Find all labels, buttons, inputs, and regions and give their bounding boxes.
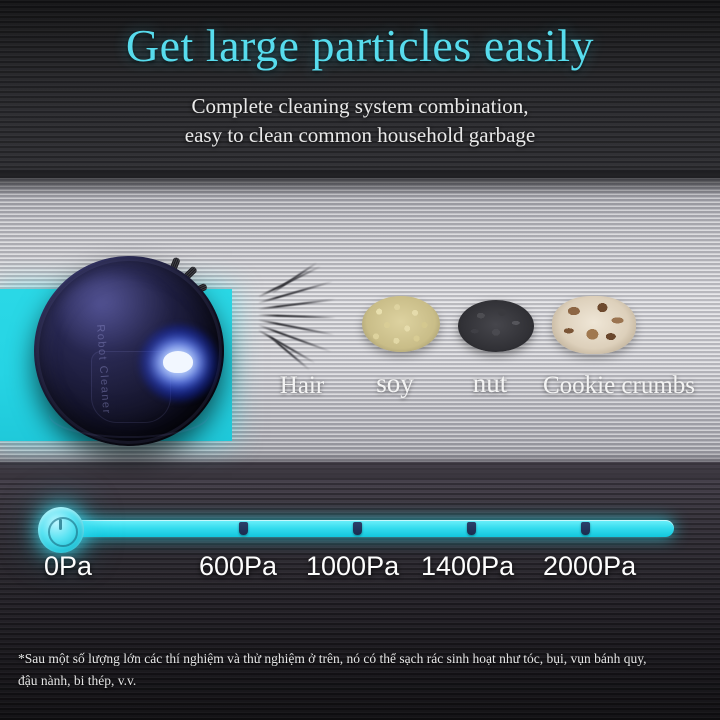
footnote: *Sau một số lượng lớn các thí nghiệm và … [18, 648, 708, 692]
slider-label-1000pa: 1000Pa [306, 551, 399, 582]
robot-vacuum: Robot Cleaner [22, 252, 242, 462]
slider-tick-1000pa [353, 522, 362, 535]
slider-label-2000pa: 2000Pa [543, 551, 636, 582]
subtitle-line-2: easy to clean common household garbage [0, 121, 720, 150]
sample-soy [362, 296, 440, 352]
footnote-line-2: đậu nành, bi thép, v.v. [18, 670, 708, 692]
led-indicator-icon [163, 351, 193, 373]
subtitle-line-1: Complete cleaning system combination, [0, 92, 720, 121]
sample-label-cookie-crumbs: Cookie crumbs [528, 372, 710, 400]
slider-tick-600pa [239, 522, 248, 535]
slider-tick-2000pa [581, 522, 590, 535]
slider-label-0pa: 0Pa [44, 551, 92, 582]
sample-label-hair: Hair [258, 372, 346, 400]
background-blend-top [0, 170, 720, 196]
sample-hair [258, 286, 350, 352]
footnote-line-1: *Sau một số lượng lớn các thí nghiệm và … [18, 648, 708, 670]
slider-label-600pa: 600Pa [199, 551, 277, 582]
headline: Get large particles easily [0, 22, 720, 70]
sample-nut [458, 300, 534, 352]
slider-label-1400pa: 1400Pa [421, 551, 514, 582]
suction-pressure-slider[interactable]: 0Pa 600Pa 1000Pa 1400Pa 2000Pa [0, 505, 720, 595]
power-icon [48, 517, 78, 547]
power-icon-bar [59, 519, 62, 530]
slider-knob[interactable] [38, 507, 84, 553]
product-ad-banner: Get large particles easily Complete clea… [0, 0, 720, 720]
sample-cookie-crumbs [552, 296, 636, 354]
slider-tick-1400pa [467, 522, 476, 535]
subtitle: Complete cleaning system combination, ea… [0, 92, 720, 150]
sample-label-nut: nut [448, 368, 532, 399]
sample-label-soy: soy [352, 368, 438, 399]
